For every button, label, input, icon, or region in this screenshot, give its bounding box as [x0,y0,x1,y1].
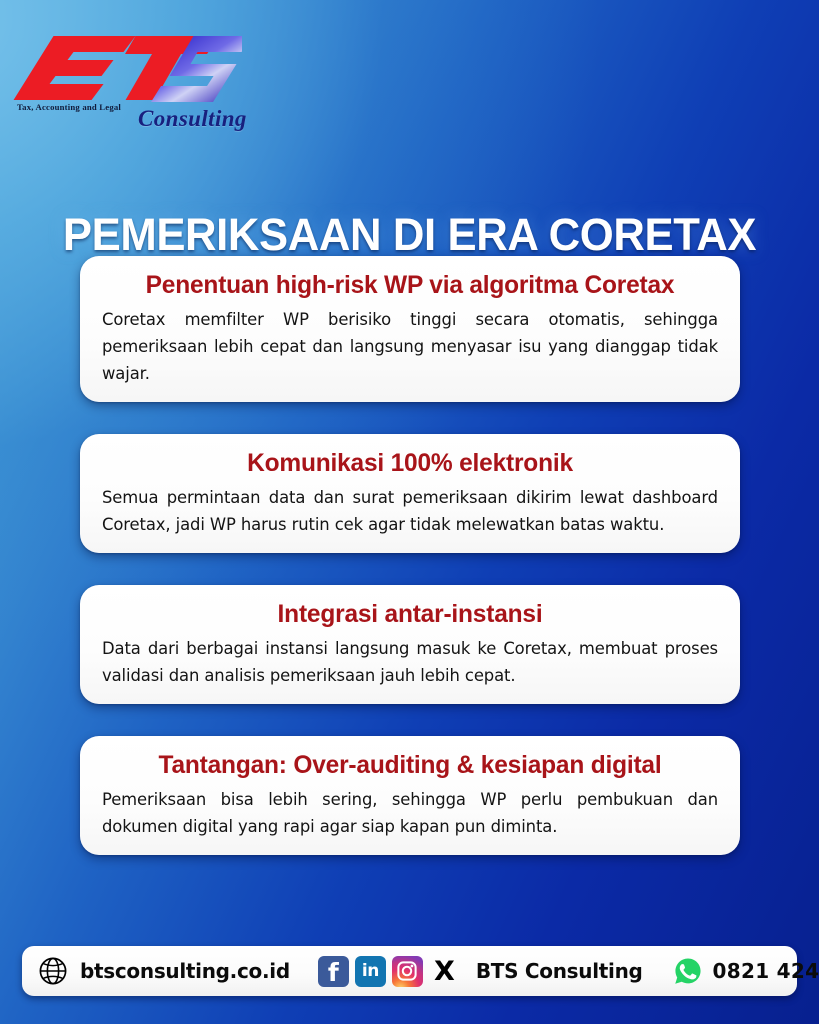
logo-tagline: Tax, Accounting and Legal [17,102,121,112]
instagram-glyph [396,960,418,982]
info-card: Integrasi antar-instansi Data dari berba… [80,585,740,704]
card-title: Penentuan high-risk WP via algoritma Cor… [108,269,712,301]
card-body: Coretax memfilter WP berisiko tinggi sec… [102,306,718,387]
whatsapp-icon [673,956,703,986]
card-title: Integrasi antar-instansi [108,598,712,630]
whatsapp-item[interactable]: 0821 4247 9998 [643,956,819,986]
card-body: Pemeriksaan bisa lebih sering, sehingga … [102,786,718,840]
instagram-icon[interactable] [392,956,423,987]
facebook-glyph: f [328,960,339,985]
card-list: Penentuan high-risk WP via algoritma Cor… [80,256,740,855]
x-twitter-icon[interactable]: X [429,956,460,987]
info-card: Komunikasi 100% elektronik Semua permint… [80,434,740,553]
website-item[interactable]: btsconsulting.co.id [38,956,290,986]
page-title: PEMERIKSAAN DI ERA CORETAX [12,208,806,262]
poster-canvas: Tax, Accounting and Legal Consulting PEM… [0,0,819,1024]
info-card: Penentuan high-risk WP via algoritma Cor… [80,256,740,402]
bts-logo-mark [12,26,242,112]
x-glyph: X [434,958,455,985]
bts-logo: Tax, Accounting and Legal Consulting [12,26,242,126]
card-title: Komunikasi 100% elektronik [108,447,712,479]
facebook-icon[interactable]: f [318,956,349,987]
logo-consulting-label: Consulting [138,106,247,132]
phone-label: 0821 4247 9998 [713,959,819,983]
website-label: btsconsulting.co.id [80,959,290,983]
info-card: Tantangan: Over-auditing & kesiapan digi… [80,736,740,855]
linkedin-icon[interactable]: in [355,956,386,987]
contact-footer-bar: btsconsulting.co.id f in X BTS Consultin… [22,946,797,996]
card-title: Tantangan: Over-auditing & kesiapan digi… [108,749,712,781]
globe-icon [38,956,68,986]
brand-label: BTS Consulting [476,959,643,983]
social-links: f in X [318,956,460,987]
brand-item: BTS Consulting [476,959,643,983]
card-body: Data dari berbagai instansi langsung mas… [102,635,718,689]
card-body: Semua permintaan data dan surat pemeriks… [102,484,718,538]
linkedin-glyph: in [362,963,379,980]
